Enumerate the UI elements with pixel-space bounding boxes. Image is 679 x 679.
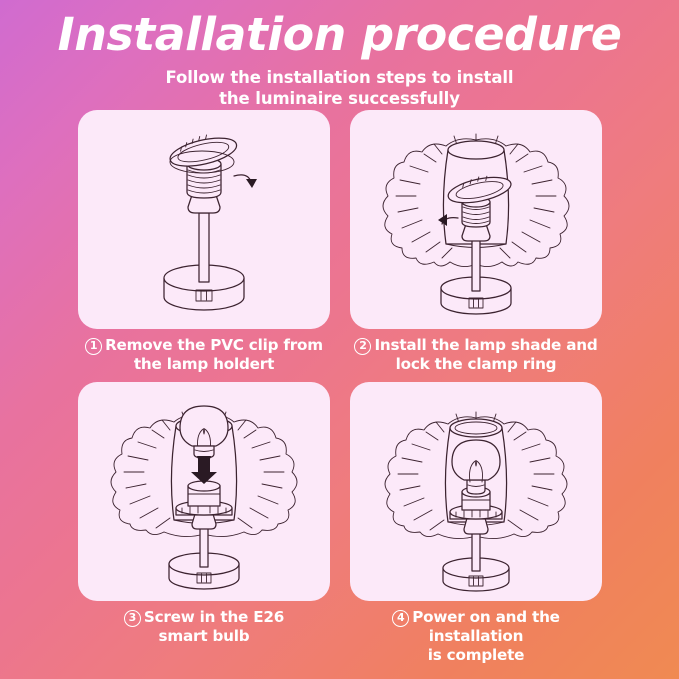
step-1-illustration-card (78, 110, 330, 329)
step-4-caption-line-2: is complete (428, 646, 525, 664)
step-1: 1Remove the PVC clip from the lamp holde… (78, 110, 330, 374)
page-title: Installation procedure (0, 8, 679, 62)
assembled-lamp-complete-icon (350, 382, 602, 601)
install-shade-lock-clamp-ring-icon (350, 110, 602, 329)
step-4-illustration-card (350, 382, 602, 601)
step-2-caption-line-2: lock the clamp ring (396, 355, 557, 373)
step-3-illustration-card (78, 382, 330, 601)
installation-procedure-poster: Installation procedure Follow the instal… (0, 0, 679, 679)
step-3-number: 3 (124, 610, 141, 627)
step-2-illustration-card (350, 110, 602, 329)
step-3-caption-line-1: Screw in the E26 (144, 608, 284, 626)
step-2-number: 2 (354, 338, 371, 355)
step-2-caption: 2Install the lamp shade and lock the cla… (350, 336, 602, 374)
poster-header: Installation procedure Follow the instal… (0, 8, 679, 109)
page-subtitle: Follow the installation steps to install… (0, 67, 679, 109)
step-1-caption-line-1: Remove the PVC clip from (105, 336, 323, 354)
step-4: 4Power on and the installation is comple… (350, 382, 602, 665)
step-2: 2Install the lamp shade and lock the cla… (350, 110, 602, 374)
step-3-caption: 3Screw in the E26 smart bulb (78, 608, 330, 646)
step-4-number: 4 (392, 610, 409, 627)
step-1-caption: 1Remove the PVC clip from the lamp holde… (78, 336, 330, 374)
lamp-base-with-pvc-clip-icon (78, 110, 330, 329)
subtitle-line-1: Follow the installation steps to install (0, 67, 679, 88)
steps-grid: 1Remove the PVC clip from the lamp holde… (78, 110, 602, 665)
step-4-caption-line-1: Power on and the installation (412, 608, 560, 645)
step-1-number: 1 (85, 338, 102, 355)
step-4-caption: 4Power on and the installation is comple… (350, 608, 602, 665)
step-2-caption-line-1: Install the lamp shade and (374, 336, 597, 354)
screw-in-bulb-icon (78, 382, 330, 601)
subtitle-line-2: the luminaire successfully (0, 88, 679, 109)
step-3: 3Screw in the E26 smart bulb (78, 382, 330, 665)
step-3-caption-line-2: smart bulb (159, 627, 250, 645)
step-1-caption-line-2: the lamp holdert (134, 355, 274, 373)
